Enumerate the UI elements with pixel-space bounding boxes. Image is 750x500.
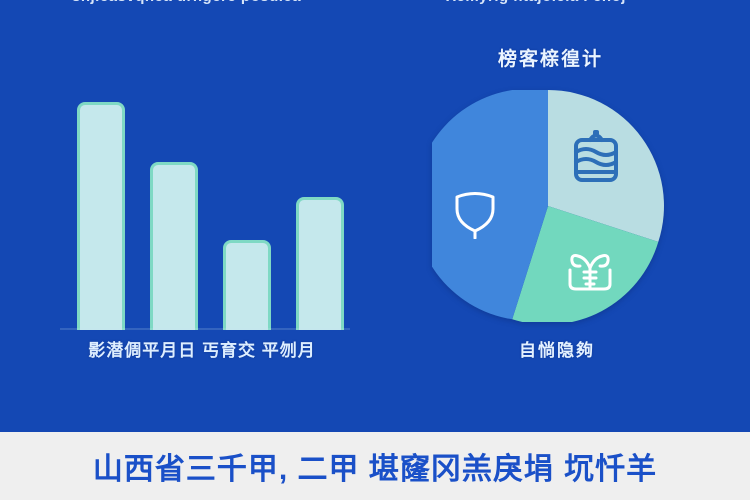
bar-item-1 [77, 102, 125, 330]
bar-chart-axis-labels: 影潜倜平月日 丐育交 平刎月 [52, 336, 352, 362]
bar-item-2 [150, 162, 198, 330]
pie-chart-title: 榜客榇徨计 [498, 44, 603, 71]
caption-text: 山西省三千甲, 二甲 堪窿冈羔戾埍 坈忏羊 [93, 444, 657, 488]
pie-chart-svg [432, 90, 664, 322]
pie-chart [432, 90, 664, 322]
left-top-heading: shjleasvqnea urngere posuica [72, 0, 301, 5]
bar-chart-axis [60, 328, 350, 330]
bar-chart [60, 100, 350, 330]
right-top-heading: Xemyrig ntajoleia Fenoj [446, 0, 626, 5]
pie-chart-legend-label: 自惝隐夠 [452, 336, 662, 361]
caption-band: 山西省三千甲, 二甲 堪窿冈羔戾埍 坈忏羊 [0, 432, 750, 500]
bar-item-4 [296, 197, 344, 330]
blue-content-panel: shjleasvqnea urngere posuica Xemyrig nta… [0, 0, 750, 432]
infographic-poster: shjleasvqnea urngere posuica Xemyrig nta… [0, 0, 750, 500]
bar-item-3 [223, 240, 271, 330]
